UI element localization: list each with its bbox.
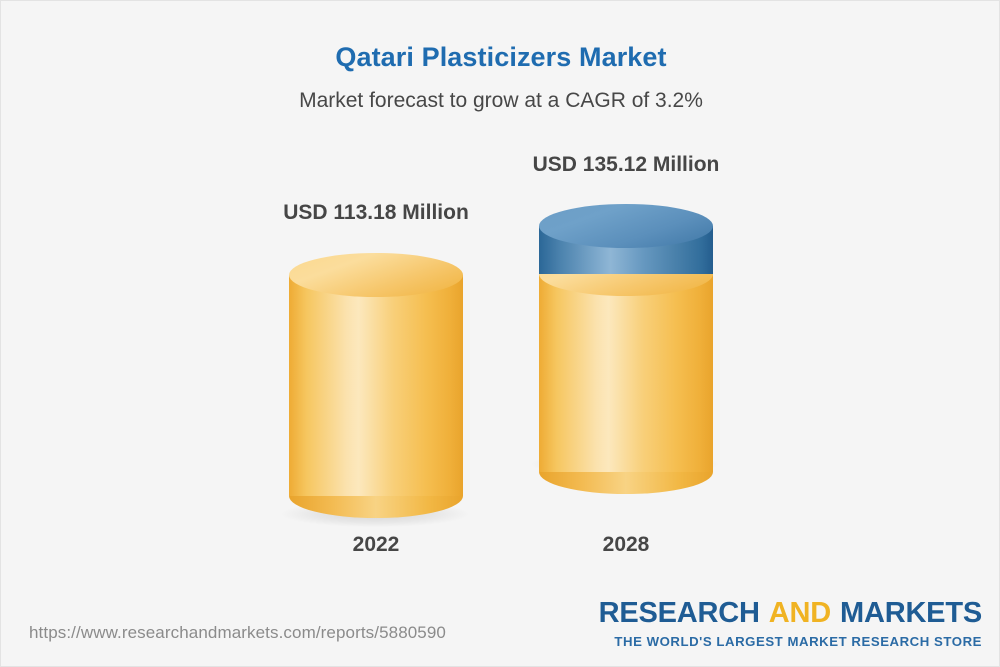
- brand-logo[interactable]: RESEARCHANDMARKETS THE WORLD'S LARGEST M…: [599, 599, 982, 649]
- logo-word-markets: MARKETS: [840, 597, 982, 629]
- infographic-chart: Qatari Plasticizers Market Market foreca…: [0, 0, 1000, 667]
- value-label-2028: USD 135.12 Million: [526, 153, 726, 177]
- logo-word-and: AND: [769, 597, 831, 629]
- cylinder-2022[interactable]: [289, 253, 463, 518]
- cylinder-base-segment-2028: [539, 274, 713, 472]
- value-label-2022: USD 113.18 Million: [276, 201, 476, 225]
- cylinder-2028[interactable]: [539, 204, 713, 518]
- logo-tagline: THE WORLD'S LARGEST MARKET RESEARCH STOR…: [599, 634, 982, 649]
- category-label-2028: 2028: [526, 533, 726, 557]
- cylinder-body-2022: [289, 275, 463, 496]
- source-url[interactable]: https://www.researchandmarkets.com/repor…: [29, 623, 446, 643]
- cylinder-top-cap-2022: [289, 253, 463, 297]
- logo-word-research: RESEARCH: [599, 597, 760, 629]
- chart-plot-area: USD 113.18 Million 2022 USD 135.12 Milli…: [1, 1, 1000, 601]
- category-label-2022: 2022: [276, 533, 476, 557]
- logo-wordmark: RESEARCHANDMARKETS: [599, 599, 982, 628]
- cylinder-top-cap-2028: [539, 204, 713, 248]
